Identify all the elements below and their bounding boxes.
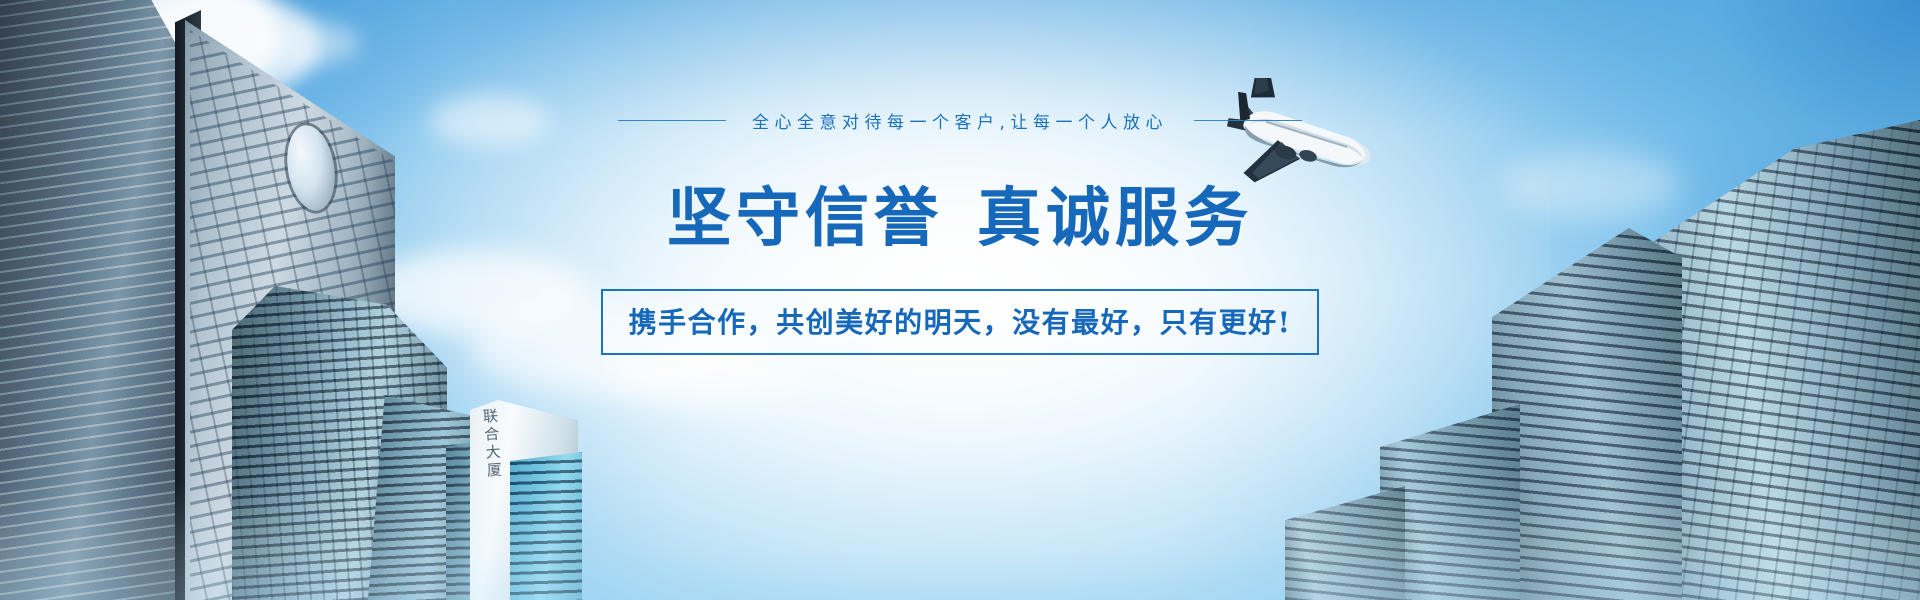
tagline-text: 全心全意对待每一个客户,让每一个人放心 [752,108,1168,133]
page-title: 坚守信誉真诚服务 [667,167,1253,259]
headline-part-two: 真诚服务 [977,181,1253,256]
subtitle-box: 携手合作，共创美好的明天，没有最好，只有更好! [601,289,1320,355]
headline-part-one: 坚守信誉 [667,181,943,256]
tagline-row: 全心全意对待每一个客户,让每一个人放心 [618,108,1302,133]
divider-rule-right-icon [1194,120,1302,121]
building-window-grid [1285,486,1405,600]
hero-banner: 联合大厦 [0,0,1920,600]
banner-content: 全心全意对待每一个客户,让每一个人放心 坚守信誉真诚服务 携手合作，共创美好的明… [0,0,1920,355]
building-with-sign: 联合大厦 [470,400,578,600]
subtitle-text: 携手合作，共创美好的明天，没有最好，只有更好! [629,301,1292,341]
building-window-grid [510,452,582,600]
divider-rule-left-icon [618,120,726,121]
building-right-fourth [1285,486,1405,600]
